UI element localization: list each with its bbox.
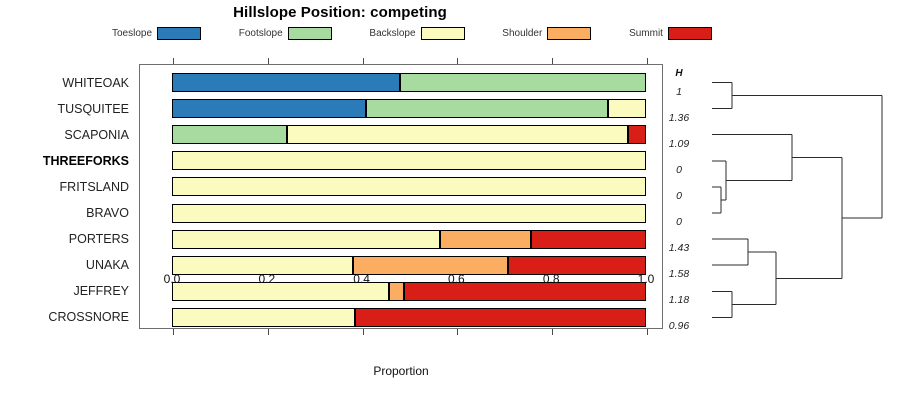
x-axis-tick (552, 58, 553, 64)
category-label-porters: PORTERS (69, 232, 129, 246)
category-axis-labels: WHITEOAKTUSQUITEESCAPONIATHREEFORKSFRITS… (0, 64, 133, 329)
x-axis-tick (173, 58, 174, 64)
x-axis-tick (647, 329, 648, 335)
legend-label: Footslope (239, 28, 283, 39)
h-value: 1.58 (662, 268, 696, 280)
h-column: H11.361.090001.431.581.180.96 (662, 64, 702, 329)
h-value: 0 (662, 164, 696, 176)
x-axis-tick-label: 0.2 (258, 272, 275, 286)
legend-swatch-summit (668, 27, 712, 40)
legend-item-toeslope: Toeslope (112, 27, 201, 40)
legend-label: Backslope (369, 28, 415, 39)
category-label-fritsland: FRITSLAND (60, 180, 129, 194)
legend-swatch-shoulder (547, 27, 591, 40)
legend-swatch-backslope (421, 27, 465, 40)
legend-item-footslope: Footslope (239, 27, 332, 40)
x-axis-tick (363, 329, 364, 335)
legend-item-backslope: Backslope (369, 27, 464, 40)
h-value: 1.09 (662, 138, 696, 150)
h-value: 1 (662, 86, 696, 98)
category-label-crossnore: CROSSNORE (48, 310, 129, 324)
x-axis-label: Proportion (139, 364, 663, 378)
x-axis-tick (363, 58, 364, 64)
legend-label: Toeslope (112, 28, 152, 39)
x-axis-tick (173, 329, 174, 335)
legend-item-summit: Summit (629, 27, 712, 40)
h-column-header: H (662, 68, 696, 79)
h-value: 1.43 (662, 242, 696, 254)
x-axis-tick (552, 329, 553, 335)
page-title: Hillslope Position: competing (0, 4, 680, 21)
plot-panel (139, 64, 663, 329)
x-axis-tick (268, 329, 269, 335)
category-label-tusquitee: TUSQUITEE (57, 102, 129, 116)
category-label-jeffrey: JEFFREY (73, 284, 129, 298)
category-label-threeforks: THREEFORKS (43, 154, 129, 168)
dendrogram (700, 60, 900, 335)
x-axis-tick-label: 0.8 (543, 272, 560, 286)
x-axis-tick-label: 0.0 (164, 272, 181, 286)
legend-item-shoulder: Shoulder (502, 27, 591, 40)
x-axis-tick (647, 58, 648, 64)
category-label-bravo: BRAVO (86, 206, 129, 220)
h-value: 0 (662, 190, 696, 202)
x-axis-tick-label: 0.6 (448, 272, 465, 286)
h-value: 1.36 (662, 112, 696, 124)
x-axis-tick (457, 329, 458, 335)
x-axis-tick-label: 0.4 (353, 272, 370, 286)
legend-swatch-toeslope (157, 27, 201, 40)
x-axis-tick-label: 1.0 (638, 272, 655, 286)
h-value: 0 (662, 216, 696, 228)
category-label-scaponia: SCAPONIA (64, 128, 129, 142)
x-axis-tick (268, 58, 269, 64)
legend-swatch-footslope (288, 27, 332, 40)
chart-root: Hillslope Position: competing ToeslopeFo… (0, 0, 900, 400)
legend-label: Shoulder (502, 28, 542, 39)
x-axis-tick (457, 58, 458, 64)
category-label-unaka: UNAKA (86, 258, 129, 272)
legend-label: Summit (629, 28, 663, 39)
h-value: 1.18 (662, 294, 696, 306)
category-label-whiteoak: WHITEOAK (62, 76, 129, 90)
legend: ToeslopeFootslopeBackslopeShoulderSummit (112, 24, 712, 42)
h-value: 0.96 (662, 320, 696, 332)
